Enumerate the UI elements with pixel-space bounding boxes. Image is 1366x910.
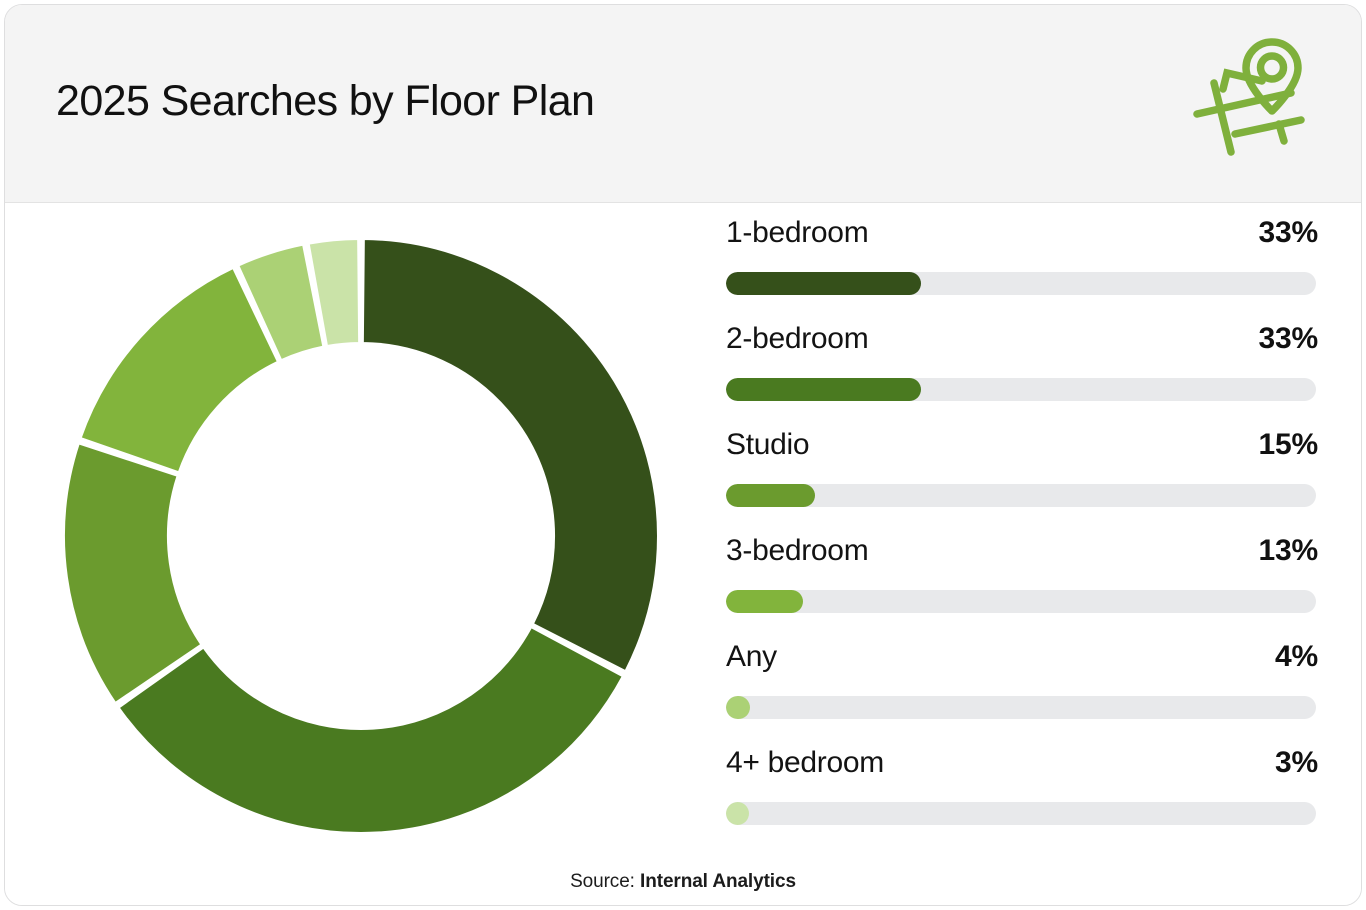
source-note: Source: Internal Analytics [5,871,1361,893]
legend-value: 3% [1275,746,1318,780]
legend-bar-track [726,590,1316,613]
legend-bar-track [726,802,1316,825]
legend-bar-track [726,272,1316,295]
source-value: Internal Analytics [640,871,796,892]
legend-row: Studio15% [722,428,1320,534]
legend-row-header: 2-bedroom33% [722,322,1320,368]
legend-bar-fill [726,802,749,825]
card-header: 2025 Searches by Floor Plan [5,5,1361,203]
donut-segment [119,627,623,833]
legend-label: 3-bedroom [726,534,868,568]
legend-label: 4+ bedroom [726,746,884,780]
legend-row: Any4% [722,640,1320,746]
legend-row: 1-bedroom33% [722,216,1320,322]
legend-row: 4+ bedroom3% [722,746,1320,852]
legend-bar-track [726,484,1316,507]
legend-value: 13% [1259,534,1318,568]
legend-row: 2-bedroom33% [722,322,1320,428]
legend-bar-track [726,378,1316,401]
legend-bar-fill [726,696,750,719]
legend-row: 3-bedroom13% [722,534,1320,640]
legend-row-header: Any4% [722,640,1320,686]
page-title: 2025 Searches by Floor Plan [56,77,594,126]
legend-value: 33% [1259,322,1318,356]
legend-list: 1-bedroom33%2-bedroom33%Studio15%3-bedro… [722,216,1320,852]
legend-bar-fill [726,378,921,401]
legend-value: 4% [1275,640,1318,674]
infographic-card: 2025 Searches by Floor Plan 1-be [4,4,1362,906]
card-body: 1-bedroom33%2-bedroom33%Studio15%3-bedro… [5,204,1361,906]
legend-label: Any [726,640,777,674]
donut-segment [81,268,278,472]
legend-bar-track [726,696,1316,719]
legend-bar-fill [726,590,803,613]
legend-label: 1-bedroom [726,216,868,250]
source-label: Source: [570,871,635,892]
legend-row-header: 4+ bedroom3% [722,746,1320,792]
legend-row-header: Studio15% [722,428,1320,474]
legend-label: 2-bedroom [726,322,868,356]
legend-value: 33% [1259,216,1318,250]
legend-value: 15% [1259,428,1318,462]
legend-row-header: 3-bedroom13% [722,534,1320,580]
legend-bar-fill [726,272,921,295]
legend-bar-fill [726,484,815,507]
legend-row-header: 1-bedroom33% [722,216,1320,262]
map-pin-icon [1183,29,1313,159]
donut-segment [363,239,658,671]
donut-chart [31,216,691,856]
legend-label: Studio [726,428,809,462]
